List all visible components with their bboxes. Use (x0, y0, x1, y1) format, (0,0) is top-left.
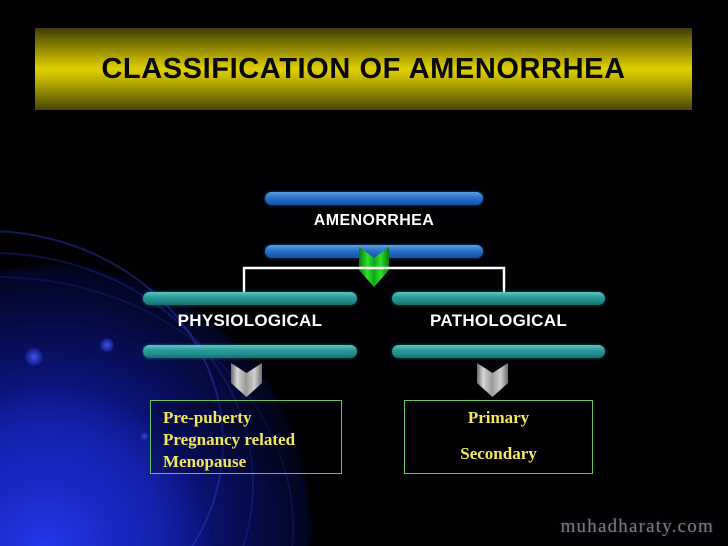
background-dot (100, 338, 114, 352)
detail-box-physiological: Pre-puberty Pregnancy related Menopause (150, 400, 342, 474)
watermark: muhadharaty.com (561, 516, 714, 538)
background-dot (140, 432, 149, 441)
node-bar-bottom (265, 245, 483, 258)
node-bar-bottom (392, 345, 605, 358)
slide-title-banner: CLASSIFICATION OF AMENORRHEA (35, 28, 692, 110)
node-pathological: PATHOLOGICAL (392, 292, 605, 358)
background-swoosh-line (0, 230, 224, 546)
node-bar-top (143, 292, 357, 305)
list-item: Primary (405, 407, 592, 429)
node-bar-top (392, 292, 605, 305)
page-title: CLASSIFICATION OF AMENORRHEA (101, 53, 625, 86)
list-item: Menopause (163, 451, 341, 473)
slide-canvas: CLASSIFICATION OF AMENORRHEA AMENORRHEA (0, 0, 728, 546)
gray-down-arrow-icon (230, 362, 263, 398)
node-bar-bottom (143, 345, 357, 358)
list-item: Pregnancy related (163, 429, 341, 451)
node-physiological-label: PHYSIOLOGICAL (143, 311, 357, 331)
list-item: Secondary (405, 443, 592, 465)
node-amenorrhea: AMENORRHEA (265, 192, 483, 258)
detail-box-pathological: Primary Secondary (404, 400, 593, 474)
connector-bracket (240, 262, 508, 294)
node-physiological: PHYSIOLOGICAL (143, 292, 357, 358)
node-pathological-label: PATHOLOGICAL (392, 311, 605, 331)
node-amenorrhea-label: AMENORRHEA (265, 212, 483, 230)
node-bar-top (265, 192, 483, 205)
background-dot (25, 348, 43, 366)
list-item: Pre-puberty (163, 407, 341, 429)
gray-down-arrow-icon (476, 362, 509, 398)
list-spacer (405, 429, 592, 443)
